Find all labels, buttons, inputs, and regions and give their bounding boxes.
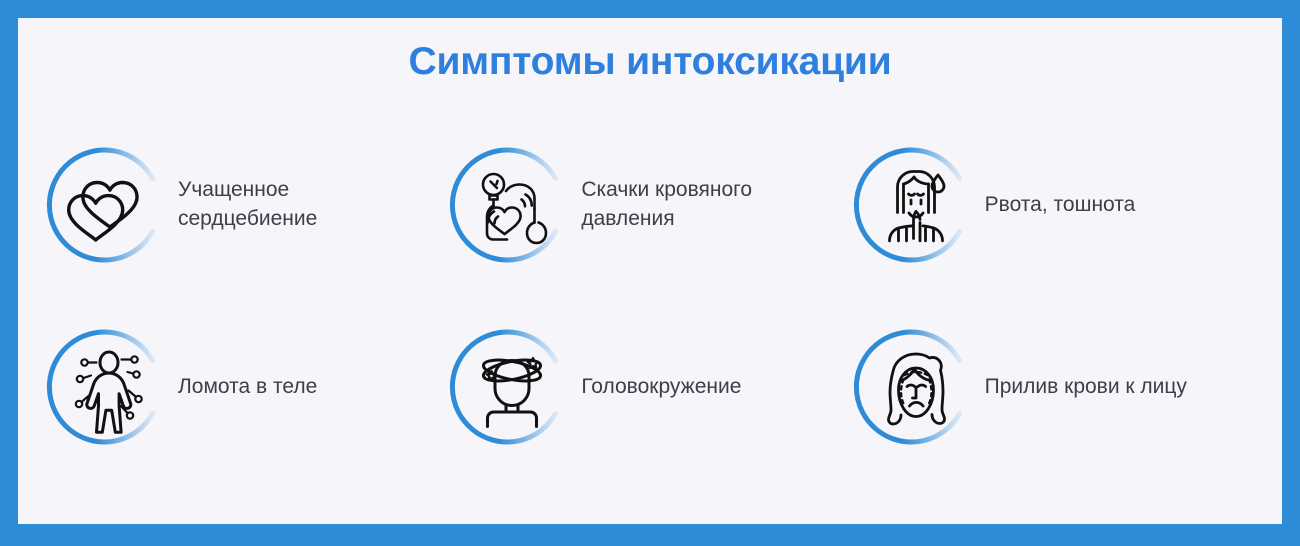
symptom-label: Ломота в теле bbox=[178, 373, 317, 402]
symptom-label: Рвота, тошнота bbox=[985, 191, 1136, 220]
flushed-face-icon bbox=[853, 324, 979, 450]
icon-badge bbox=[449, 142, 575, 268]
body-ache-person-icon bbox=[46, 324, 172, 450]
icon-badge bbox=[853, 142, 979, 268]
infographic-frame: Симптомы интоксикации bbox=[0, 0, 1300, 546]
symptom-item-nausea: Рвота, тошнота bbox=[853, 114, 1256, 296]
symptom-label: Учащенное сердцебиение bbox=[178, 176, 390, 234]
symptom-item-ache: Ломота в теле bbox=[46, 296, 449, 478]
symptom-label: Головокружение bbox=[581, 373, 741, 402]
dizzy-head-stars-icon bbox=[449, 324, 575, 450]
icon-badge bbox=[46, 142, 172, 268]
blood-pressure-monitor-icon bbox=[449, 142, 575, 268]
nauseated-person-icon bbox=[853, 142, 979, 268]
page-title: Симптомы интоксикации bbox=[18, 18, 1282, 84]
double-heart-icon bbox=[46, 142, 172, 268]
symptoms-grid: Учащенное сердцебиение bbox=[18, 114, 1282, 478]
symptom-label: Прилив крови к лицу bbox=[985, 373, 1187, 402]
icon-badge bbox=[46, 324, 172, 450]
infographic-panel: Симптомы интоксикации bbox=[18, 18, 1282, 524]
symptom-label: Скачки кровяного давления bbox=[581, 176, 793, 234]
symptom-item-dizzy: Головокружение bbox=[449, 296, 852, 478]
symptom-item-flush: Прилив крови к лицу bbox=[853, 296, 1256, 478]
icon-badge bbox=[853, 324, 979, 450]
symptom-item-pressure: Скачки кровяного давления bbox=[449, 114, 852, 296]
icon-badge bbox=[449, 324, 575, 450]
symptom-item-heart: Учащенное сердцебиение bbox=[46, 114, 449, 296]
